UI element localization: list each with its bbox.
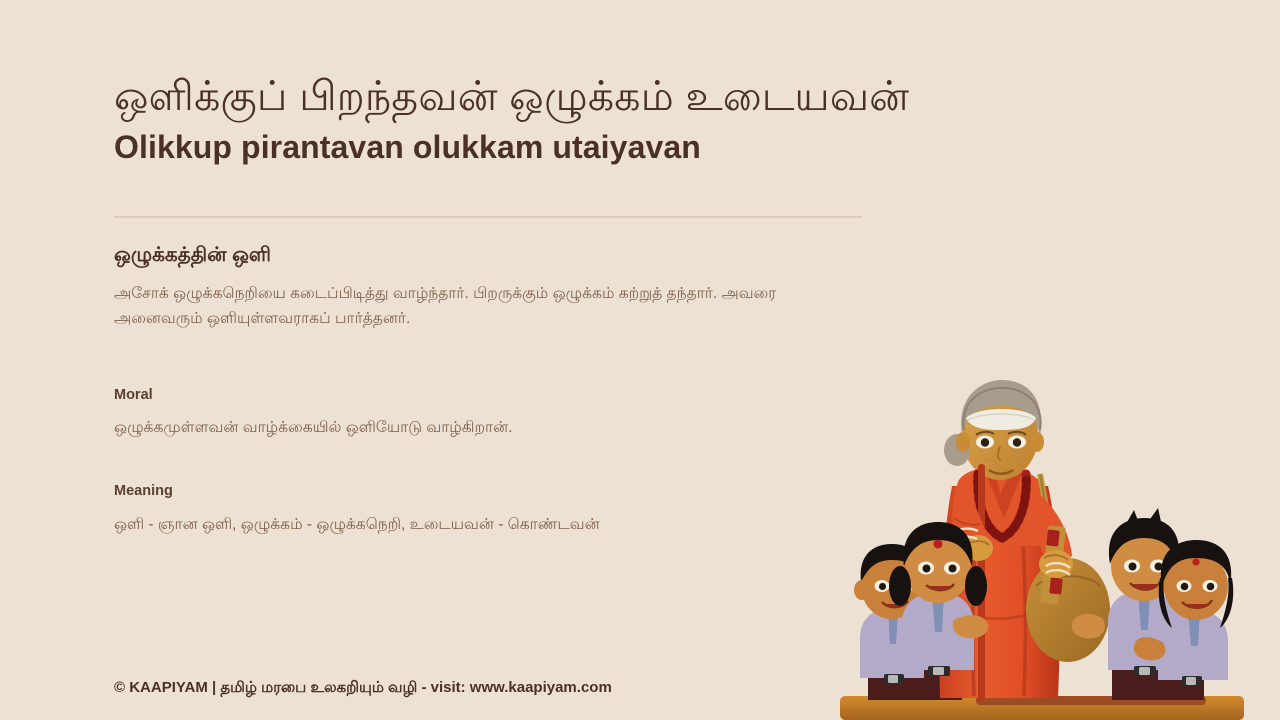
moral-block: Moral ஒழுக்கமுள்ளவன் வாழ்க்கையில் ஒளியோட… (114, 386, 874, 440)
saint-with-schoolchildren-illustration (826, 378, 1258, 720)
child-figure-2 (889, 522, 988, 676)
story-body: அசோக் ஒழுக்கநெறியை கடைப்பிடித்து வாழ்ந்த… (114, 282, 866, 332)
child-figure-3 (1072, 508, 1180, 676)
story-heading: ஒழுக்கத்தின் ஒளி (114, 216, 874, 268)
meaning-text: ஒளி - ஞான ஒளி, ஒழுக்கம் - ஒழுக்கநெறி, உட… (114, 513, 874, 536)
palm-leaf-manuscript (1040, 525, 1066, 604)
title-block: ஒளிக்குப் பிறந்தவன் ஒழுக்கம் உடையவன் Oli… (114, 0, 874, 167)
cloth-bundle (1026, 474, 1110, 662)
page-title-transliteration: Olikkup pirantavan olukkam utaiyavan (114, 128, 874, 166)
text-column: ஒளிக்குப் பிறந்தவன் ஒழுக்கம் உடையவன் Oli… (114, 0, 874, 167)
moral-label: Moral (114, 386, 874, 405)
meaning-label: Meaning (114, 482, 874, 501)
child-figure-4 (1134, 540, 1233, 686)
children-lower-bodies (868, 630, 1204, 700)
moral-text: ஒழுக்கமுள்ளவன் வாழ்க்கையில் ஒளியோடு வாழ்… (114, 416, 874, 439)
footer-credit: © KAAPIYAM | தமிழ் மரபை உலகறியும் வழி - … (114, 678, 612, 698)
bead-necklace (978, 474, 1027, 538)
child-figure-1 (854, 544, 948, 684)
bench-shape (840, 696, 1244, 720)
proverb-card: ஒளிக்குப் பிறந்தவன் ஒழுக்கம் உடையவன் Oli… (0, 0, 1280, 720)
meaning-block: Meaning ஒளி - ஞான ஒளி, ஒழுக்கம் - ஒழுக்க… (114, 482, 874, 536)
body-column: ஒழுக்கத்தின் ஒளி அசோக் ஒழுக்கநெறியை கடைப… (114, 216, 874, 536)
saint-figure (940, 380, 1110, 702)
page-title-tamil: ஒளிக்குப் பிறந்தவன் ஒழுக்கம் உடையவன் (114, 72, 874, 120)
